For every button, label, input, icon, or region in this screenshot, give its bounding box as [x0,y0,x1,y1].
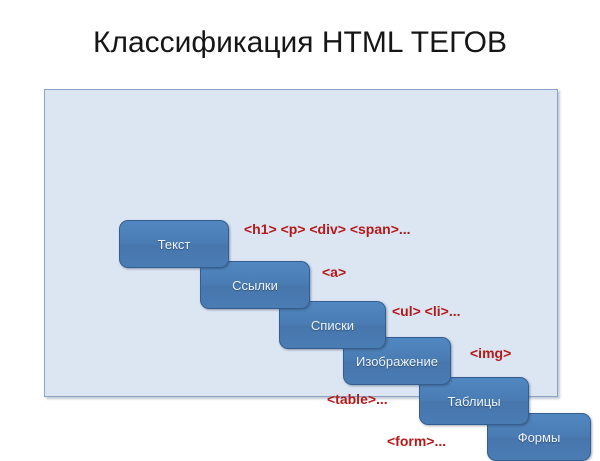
page-title: Классификация HTML ТЕГОВ [0,26,600,60]
step-box-lists-label: Списки [311,318,354,333]
tag-callout-forms: <form>... [387,433,446,449]
tag-callout-tables: <table>... [327,391,388,407]
slide-canvas: Классификация HTML ТЕГОВ Текст Ссылки Сп… [0,0,600,449]
step-box-forms-label: Формы [518,430,561,445]
step-box-text[interactable]: Текст [119,220,229,268]
tag-callout-text: <h1> <p> <div> <span>... [244,221,411,237]
step-box-text-label: Текст [158,237,191,252]
step-box-links-label: Ссылки [232,278,278,293]
tag-callout-lists: <ul> <li>... [392,303,460,319]
diagram-panel: Текст Ссылки Списки Изображение Таблицы … [44,89,558,397]
tag-callout-images: <img> [470,345,511,361]
tag-callout-links: <a> [322,264,346,280]
step-box-images-label: Изображение [356,354,438,369]
step-box-links[interactable]: Ссылки [200,261,310,309]
step-box-tables-label: Таблицы [447,394,500,409]
